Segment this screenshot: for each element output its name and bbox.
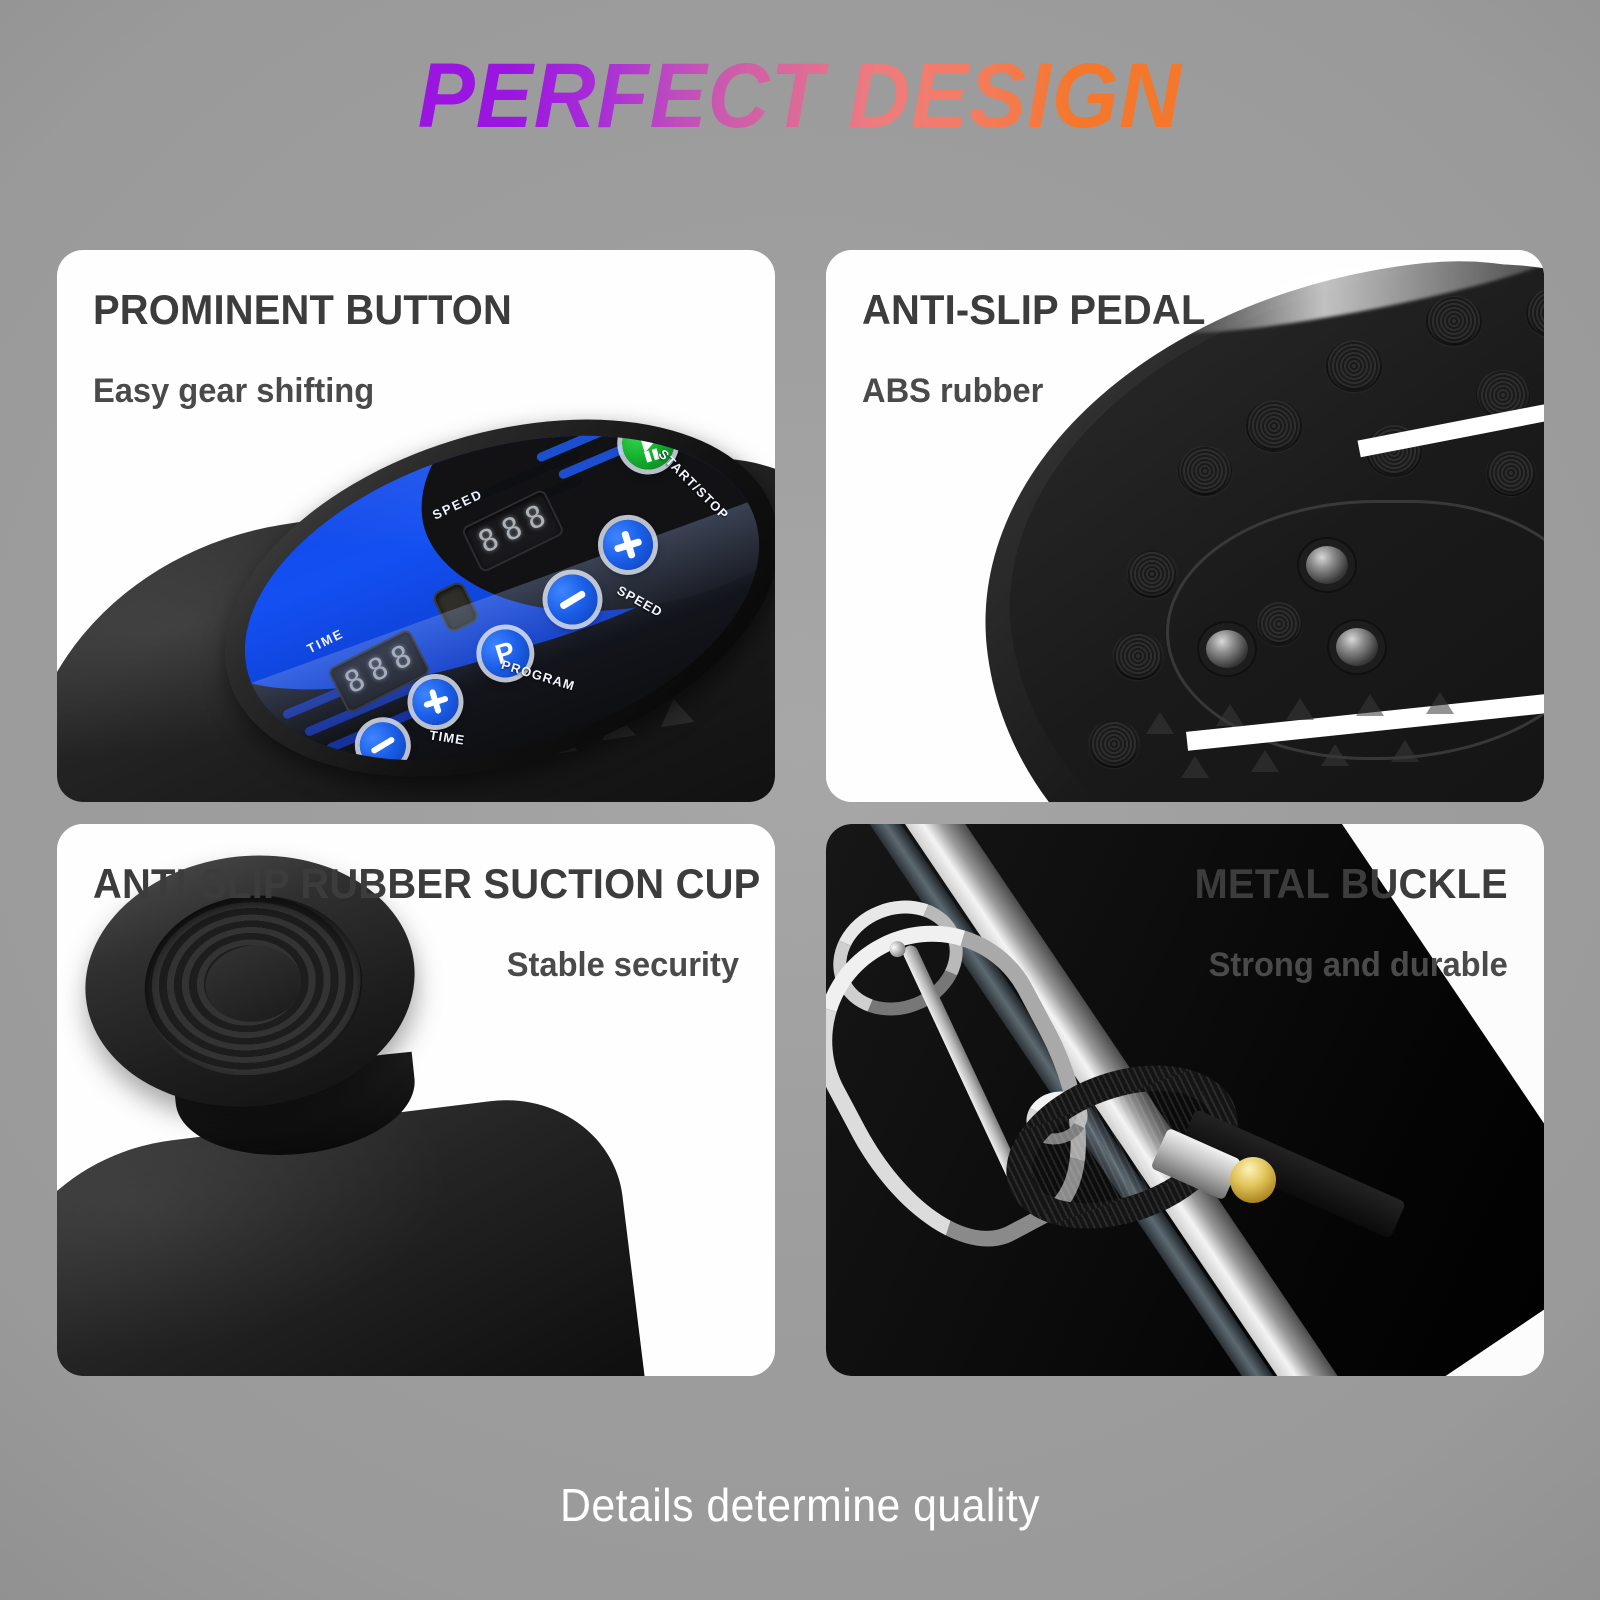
suction-cup-concentric-rings — [136, 885, 371, 1087]
pedal-nub — [1112, 632, 1164, 680]
pedal-nub — [1426, 296, 1482, 346]
pedal-triangle-texture — [1126, 682, 1544, 792]
minus-icon — [370, 737, 395, 755]
suction-cup-photo — [57, 824, 775, 1376]
pedal-nub — [1126, 550, 1178, 598]
feature-panel-anti-slip-pedal[interactable]: ANTI-SLIP PEDAL ABS rubber — [826, 250, 1544, 802]
pedal-nub — [1178, 446, 1232, 496]
power-icon — [293, 766, 324, 797]
massage-stud — [1206, 630, 1248, 668]
pedal-nub — [1486, 450, 1536, 496]
feature-panel-prominent-button[interactable]: SPEED 8 8 8 TIME 8 8 8 — [57, 250, 775, 802]
feature-panel-grid: SPEED 8 8 8 TIME 8 8 8 — [57, 250, 1544, 1376]
pedal-nub — [1256, 602, 1302, 646]
pedal-nub — [1246, 400, 1302, 452]
minus-icon — [559, 589, 586, 609]
massage-stud — [1336, 628, 1378, 666]
massage-stud — [1306, 546, 1348, 584]
feature-panel-metal-buckle[interactable]: METAL BUCKLE Strong and durable — [826, 824, 1544, 1376]
pedal-nub — [1326, 340, 1382, 392]
footer-tagline: Details determine quality — [56, 1478, 1544, 1532]
control-console-photo: SPEED 8 8 8 TIME 8 8 8 — [57, 250, 775, 802]
header-title-area: PERFECT DESIGN — [0, 44, 1600, 149]
anti-slip-pedal-photo — [826, 250, 1544, 802]
page-title: PERFECT DESIGN — [418, 44, 1182, 149]
metal-buckle-photo — [826, 824, 1544, 1376]
feature-panel-suction-cup[interactable]: ANTI-SLIP RUBBER SUCTION CUP Stable secu… — [57, 824, 775, 1376]
time-label: TIME — [428, 728, 466, 748]
